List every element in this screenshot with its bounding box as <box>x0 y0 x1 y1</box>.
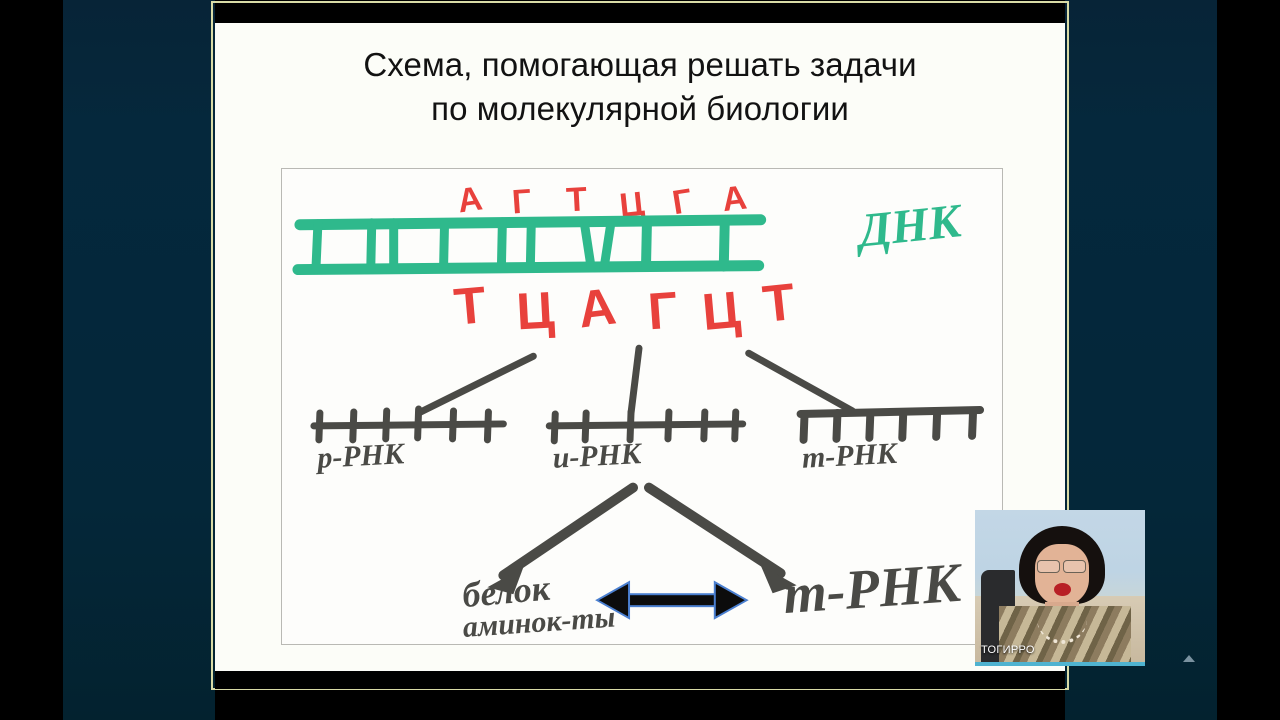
double-headed-arrow <box>597 582 747 618</box>
svg-text:Г: Г <box>511 182 533 221</box>
dna-bottom-strand-letters: Т Ц А Г Ц Т <box>452 272 798 341</box>
screen-root: Схема, помогающая решать задачи по молек… <box>0 0 1280 720</box>
title-line-2: по молекулярной биологии <box>215 87 1065 131</box>
slide-frame-left <box>211 1 213 690</box>
background-panel-left <box>63 0 215 720</box>
svg-text:Ц: Ц <box>700 280 743 341</box>
irna-symbol <box>549 412 742 441</box>
svg-text:Т: Т <box>760 272 798 333</box>
svg-text:Г: Г <box>646 280 679 340</box>
svg-text:Т: Т <box>452 275 489 336</box>
webcam-thumbnail[interactable]: ТОГИРРО <box>975 510 1145 662</box>
svg-text:А: А <box>720 179 749 220</box>
rrna-symbol <box>314 409 503 440</box>
webcam-accent-underline <box>975 662 1145 666</box>
svg-text:Ц: Ц <box>515 280 556 340</box>
svg-text:А: А <box>455 179 485 220</box>
speaker-face <box>1035 544 1089 606</box>
svg-text:Т: Т <box>565 180 588 219</box>
trna-label: т-РНК <box>801 437 899 475</box>
dna-ladder <box>298 220 761 270</box>
irna-product-arrows <box>503 488 780 576</box>
speaker-lips <box>1054 583 1071 596</box>
trna-symbol <box>801 410 981 440</box>
presentation-slide: Схема, помогающая решать задачи по молек… <box>215 3 1065 689</box>
product-trna-label: т-РНК <box>781 552 965 626</box>
webcam-overlay-label: ТОГИРРО <box>981 644 1035 656</box>
svg-text:А: А <box>575 276 619 338</box>
dna-label: ДНК <box>852 194 966 258</box>
chevron-up-icon[interactable] <box>1183 655 1195 662</box>
slide-letterbox-top <box>215 3 1065 23</box>
rrna-label: р-РНК <box>314 437 407 475</box>
slide-letterbox-bottom <box>215 671 1065 689</box>
irna-label: и-РНК <box>552 437 644 475</box>
dna-to-rna-connectors <box>419 348 853 413</box>
glasses-left-lens-icon <box>1037 560 1060 573</box>
diagram-svg: А Г Т Ц Г А <box>282 169 1002 644</box>
title-line-1: Схема, помогающая решать задачи <box>215 43 1065 87</box>
glasses-right-lens-icon <box>1063 560 1086 573</box>
page-title: Схема, помогающая решать задачи по молек… <box>215 43 1065 131</box>
diagram-photo: А Г Т Ц Г А <box>281 168 1003 645</box>
